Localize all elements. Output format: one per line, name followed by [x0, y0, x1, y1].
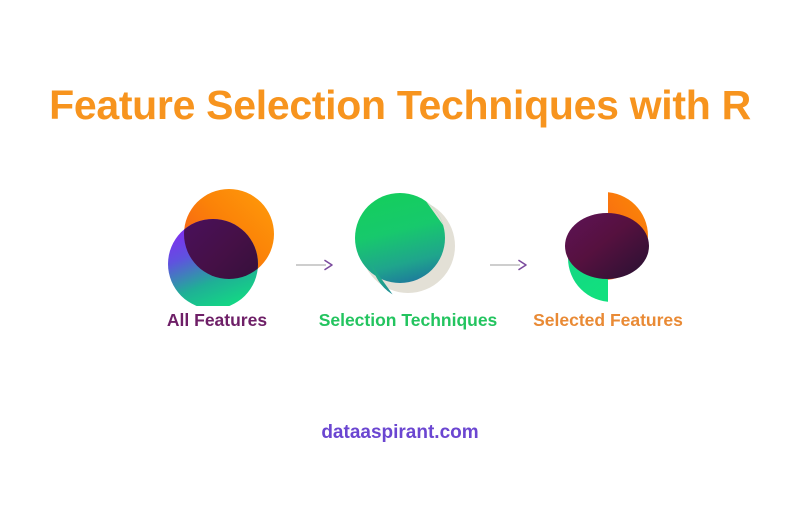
- flow-stage-all-features: All Features: [117, 186, 317, 346]
- flow-diagram: All Features: [0, 186, 800, 346]
- footer-website-link[interactable]: dataaspirant.com: [0, 420, 800, 446]
- selected-features-swirl-icon: [508, 186, 708, 306]
- flow-stage-label-all-features: All Features: [117, 308, 317, 332]
- infographic-canvas: Feature Selection Techniques with R: [0, 0, 800, 514]
- selection-techniques-swirl-icon: [308, 186, 508, 306]
- flow-stage-label-selection-techniques: Selection Techniques: [308, 308, 508, 332]
- all-features-venn-icon: [117, 186, 317, 306]
- flow-stage-label-selected-features: Selected Features: [508, 308, 708, 332]
- flow-stage-selection-techniques: Selection Techniques: [308, 186, 508, 346]
- flow-stage-selected-features: Selected Features: [508, 186, 708, 346]
- page-title: Feature Selection Techniques with R: [0, 78, 800, 132]
